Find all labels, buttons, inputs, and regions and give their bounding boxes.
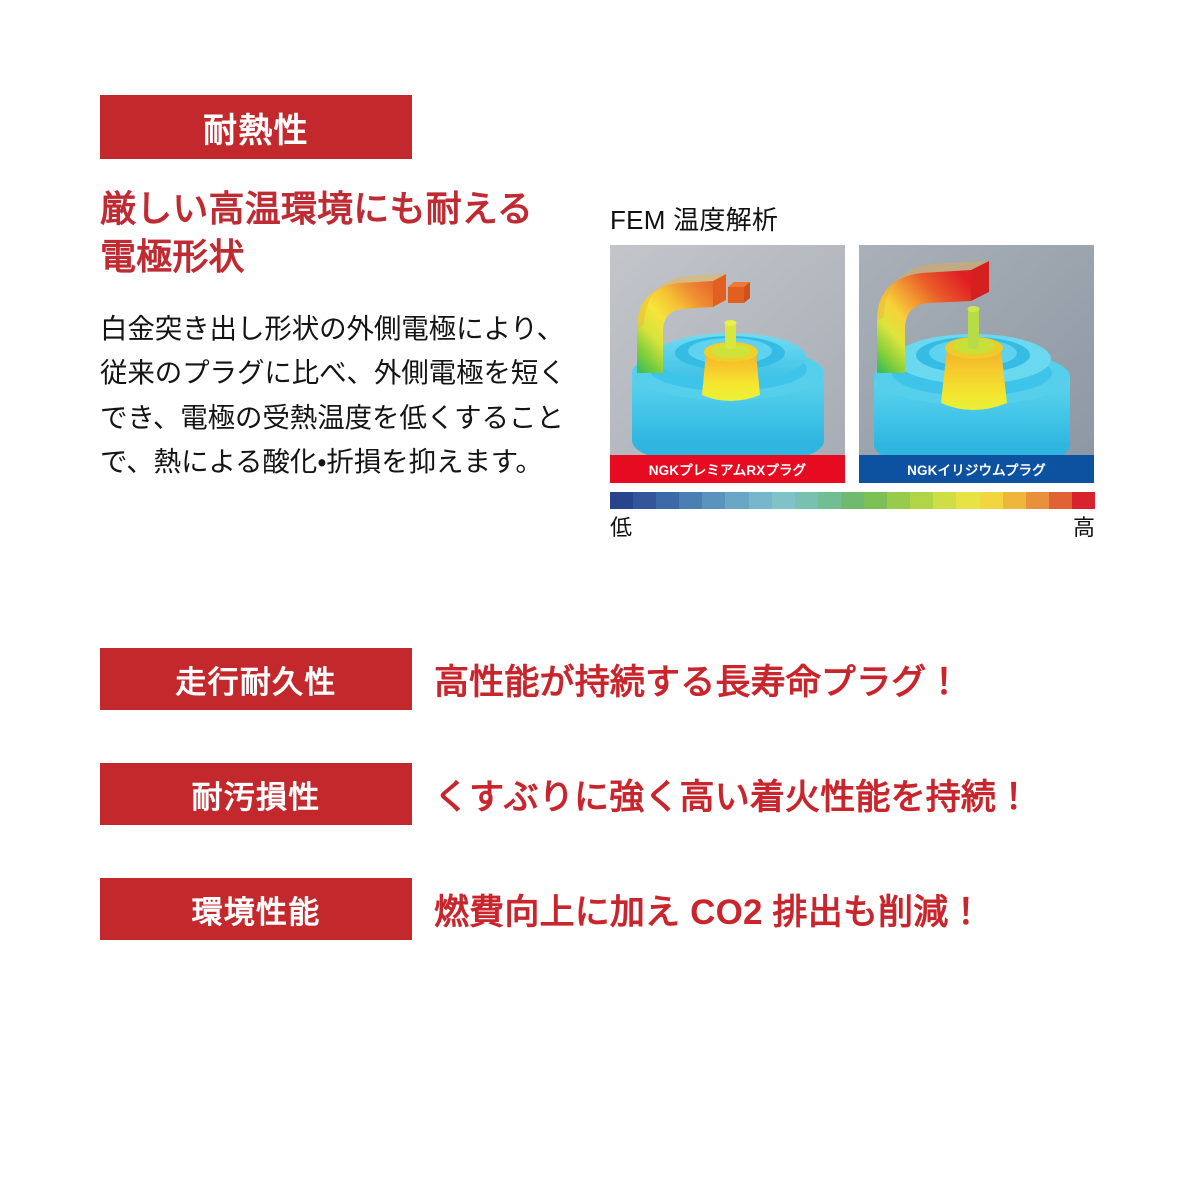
feature-row: 環境性能 燃費向上に加え CO2 排出も削減！ xyxy=(100,878,1100,940)
feature-text-fouling-resistance: くすぶりに強く高い着火性能を持続！ xyxy=(434,769,1031,820)
fem-title: FEM 温度解析 xyxy=(610,200,1095,237)
colorbar-band-14 xyxy=(933,492,956,509)
fem-analysis-block: FEM 温度解析 xyxy=(610,200,1095,542)
fem-render-premium-rx-icon xyxy=(610,245,845,455)
feature-badge-fouling-resistance: 耐汚損性 xyxy=(100,763,412,825)
heat-subheading-line-1: 厳しい高温環境にも耐える xyxy=(100,185,580,233)
heat-body-line-4: で、熱による酸化・折損を抑えます。 xyxy=(100,440,580,485)
colorbar-band-2 xyxy=(656,492,679,509)
colorbar-band-13 xyxy=(910,492,933,509)
colorbar-band-15 xyxy=(956,492,979,509)
colorbar-band-0 xyxy=(610,492,633,509)
fem-panel-iridium: NGKイリジウムプラグ xyxy=(859,245,1094,483)
colorbar-band-17 xyxy=(1003,492,1026,509)
colorbar-band-16 xyxy=(980,492,1003,509)
colorbar-band-20 xyxy=(1072,492,1095,509)
heat-resistance-badge: 耐熱性 xyxy=(100,95,412,159)
fem-image-premium-rx xyxy=(610,245,845,455)
heat-body-line-3: でき、電極の受熱温度を低くすること xyxy=(100,396,580,441)
heat-subheading: 厳しい高温環境にも耐える 電極形状 xyxy=(100,185,580,281)
colorbar-band-8 xyxy=(795,492,818,509)
colorbar-band-6 xyxy=(749,492,772,509)
fem-caption-premium-rx: NGKプレミアムRXプラグ xyxy=(610,455,845,483)
colorbar-band-9 xyxy=(818,492,841,509)
colorbar-band-18 xyxy=(1026,492,1049,509)
fem-panel-premium-rx: NGKプレミアムRXプラグ xyxy=(610,245,845,483)
colorbar-high-label: 高 xyxy=(1073,510,1095,542)
fem-colorbar xyxy=(610,492,1095,509)
fem-panel-group: NGKプレミアムRXプラグ xyxy=(610,245,1095,483)
fem-caption-iridium: NGKイリジウムプラグ xyxy=(859,455,1094,483)
feature-text-durability: 高性能が持続する長寿命プラグ！ xyxy=(434,654,962,705)
colorbar-band-10 xyxy=(841,492,864,509)
fem-colorbar-block: 低 高 xyxy=(610,492,1095,542)
heat-body-line-1: 白金突き出し形状の外側電極により、 xyxy=(100,307,580,352)
feature-row: 耐汚損性 くすぶりに強く高い着火性能を持続！ xyxy=(100,763,1100,825)
colorbar-band-11 xyxy=(864,492,887,509)
heat-body-copy: 白金突き出し形状の外側電極により、 従来のプラグに比べ、外側電極を短く でき、電… xyxy=(100,307,580,485)
heat-resistance-section: 耐熱性 厳しい高温環境にも耐える 電極形状 白金突き出し形状の外側電極により、 … xyxy=(100,95,580,485)
colorbar-band-5 xyxy=(725,492,748,509)
colorbar-band-4 xyxy=(702,492,725,509)
colorbar-band-1 xyxy=(633,492,656,509)
heat-subheading-line-2: 電極形状 xyxy=(100,233,580,281)
colorbar-band-3 xyxy=(679,492,702,509)
fem-image-iridium xyxy=(859,245,1094,455)
feature-row: 走行耐久性 高性能が持続する長寿命プラグ！ xyxy=(100,648,1100,710)
feature-badge-durability: 走行耐久性 xyxy=(100,648,412,710)
feature-badge-environmental: 環境性能 xyxy=(100,878,412,940)
heat-body-line-2: 従来のプラグに比べ、外側電極を短く xyxy=(100,351,580,396)
feature-row-list: 走行耐久性 高性能が持続する長寿命プラグ！ 耐汚損性 くすぶりに強く高い着火性能… xyxy=(100,648,1100,940)
colorbar-low-label: 低 xyxy=(610,510,632,542)
fem-colorbar-labels: 低 高 xyxy=(610,510,1095,542)
fem-render-iridium-icon xyxy=(859,245,1094,455)
feature-text-environmental: 燃費向上に加え CO2 排出も削減！ xyxy=(434,884,984,935)
colorbar-band-19 xyxy=(1049,492,1072,509)
colorbar-band-7 xyxy=(772,492,795,509)
colorbar-band-12 xyxy=(887,492,910,509)
poster-root: 耐熱性 厳しい高温環境にも耐える 電極形状 白金突き出し形状の外側電極により、 … xyxy=(0,0,1200,1200)
